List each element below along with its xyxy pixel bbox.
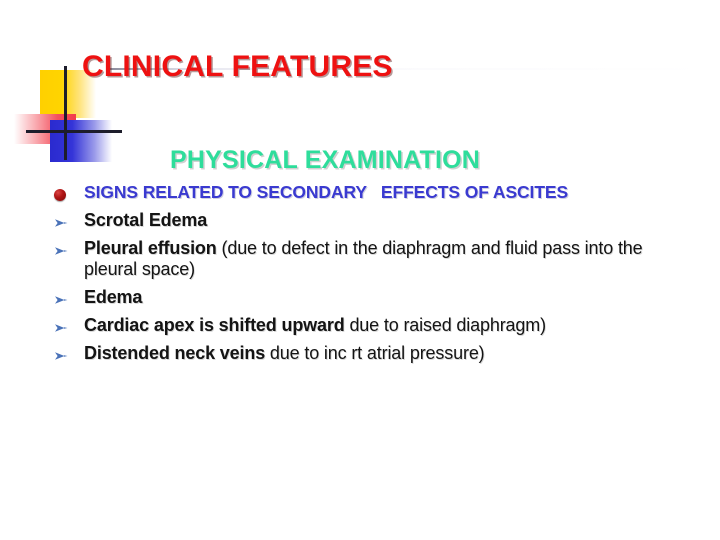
list-item: Distended neck veins due to inc rt atria… xyxy=(40,343,680,364)
list-item-text: Cardiac apex is shifted upward due to ra… xyxy=(84,315,546,335)
list-item-lead: Cardiac apex is shifted upward xyxy=(84,315,345,335)
list-item-lead: Edema xyxy=(84,287,142,307)
list-item: Cardiac apex is shifted upward due to ra… xyxy=(40,315,680,336)
slide: CLINICAL FEATURES PHYSICAL EXAMINATION S… xyxy=(0,0,720,540)
list-item: Scrotal Edema xyxy=(40,210,680,231)
list-item-rest: due to raised diaphragm) xyxy=(345,315,546,335)
list-item: Pleural effusion (due to defect in the d… xyxy=(40,238,680,280)
slide-subtitle: PHYSICAL EXAMINATION xyxy=(170,146,480,175)
list-item-rest: due to inc rt atrial pressure) xyxy=(265,343,484,363)
red-sphere-bullet-icon xyxy=(54,189,66,201)
list-item: SIGNS RELATED TO SECONDARY EFFECTS OF AS… xyxy=(40,183,680,203)
list-item-text: Distended neck veins due to inc rt atria… xyxy=(84,343,485,363)
slide-title: CLINICAL FEATURES xyxy=(82,50,393,84)
arrow-bullet-icon xyxy=(52,320,70,336)
list-item-lead: Scrotal Edema xyxy=(84,210,207,230)
logo-horizontal-rule xyxy=(26,130,122,133)
arrow-bullet-icon xyxy=(52,292,70,308)
list-item-lead: Distended neck veins xyxy=(84,343,265,363)
arrow-bullet-icon xyxy=(52,243,70,259)
list-item-text: Pleural effusion (due to defect in the d… xyxy=(84,238,643,279)
list-item-text: Scrotal Edema xyxy=(84,210,207,230)
list-item-text: SIGNS RELATED TO SECONDARY EFFECTS OF AS… xyxy=(84,182,568,202)
list-item-lead: Pleural effusion xyxy=(84,238,217,258)
list-item-text: Edema xyxy=(84,287,142,307)
logo-vertical-rule xyxy=(64,66,67,160)
list-item: Edema xyxy=(40,287,680,308)
arrow-bullet-icon xyxy=(52,215,70,231)
bullet-list: SIGNS RELATED TO SECONDARY EFFECTS OF AS… xyxy=(40,183,680,371)
logo-blue-square xyxy=(50,120,112,162)
arrow-bullet-icon xyxy=(52,348,70,364)
